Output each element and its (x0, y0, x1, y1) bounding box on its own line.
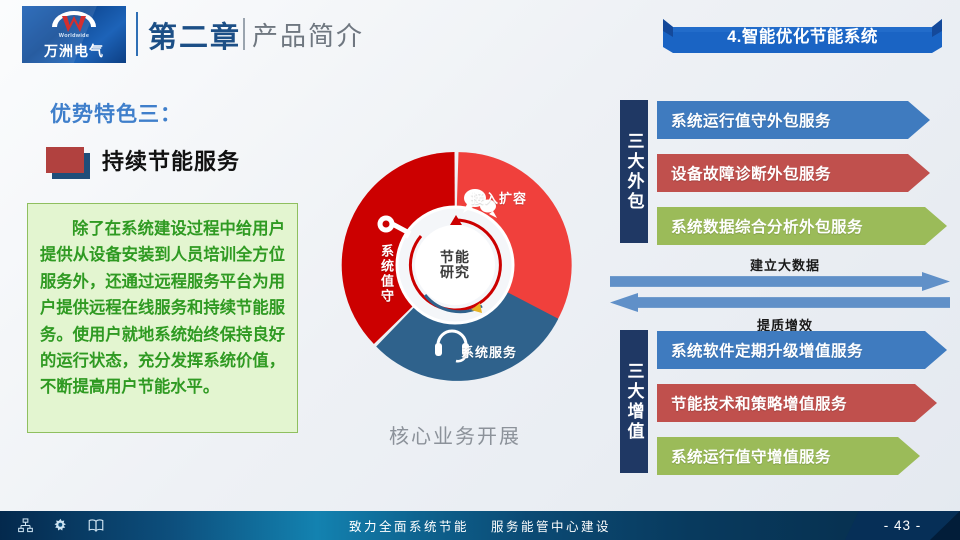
group-label-outsourcing-text: 三大外包 (622, 132, 647, 212)
bullet-heading-label: 持续节能服务 (102, 144, 240, 176)
flow-label-top: 建立大数据 (620, 255, 950, 274)
bullet-square-icon (46, 147, 84, 173)
donut-center-label: 节能 研究 (430, 250, 480, 280)
outsourcing-item-3[interactable]: 系统数据综合分析外包服务 (657, 207, 947, 245)
outsourcing-item-1-label: 系统运行值守外包服务 (671, 109, 831, 131)
core-business-donut-chart: 接入扩容 系统服务 系统值守 节能 研究 (330, 140, 580, 390)
footer-slogan: 致力全面系统节能 服务能管中心建设 (0, 511, 960, 540)
valueadd-item-3-label: 系统运行值守增值服务 (671, 445, 831, 467)
footer-slogan-left: 致力全面系统节能 (349, 516, 469, 535)
group-label-outsourcing: 三大外包 (620, 100, 648, 243)
valueadd-item-3[interactable]: 系统运行值守增值服务 (657, 437, 920, 475)
donut-label-service: 系统服务 (461, 342, 517, 361)
valueadd-item-1-label: 系统软件定期升级增值服务 (671, 339, 863, 361)
advantage-title: 优势特色三： (50, 98, 182, 128)
outsourcing-item-3-label: 系统数据综合分析外包服务 (671, 215, 863, 237)
section-banner-title: 4.智能优化节能系统 (663, 17, 942, 53)
donut-center-line1: 节能 (430, 250, 480, 265)
valueadd-item-2-label: 节能技术和策略增值服务 (671, 392, 847, 414)
description-text: 除了在系统建设过程中给用户提供从设备安装到人员培训全方位服务外，还通过远程服务平… (40, 216, 285, 401)
header-divider (136, 12, 138, 56)
group-label-valueadd: 三大增值 (620, 330, 648, 473)
outsourcing-item-1[interactable]: 系统运行值守外包服务 (657, 101, 930, 139)
chapter-separator (243, 18, 245, 50)
w-shield-icon (50, 11, 98, 35)
description-callout: 除了在系统建设过程中给用户提供从设备安装到人员培训全方位服务外，还通过远程服务平… (27, 203, 298, 433)
chapter-title: 第二章 (148, 14, 241, 56)
donut-label-access: 接入扩容 (471, 188, 527, 207)
donut-center-line2: 研究 (430, 265, 480, 280)
outsourcing-item-2-label: 设备故障诊断外包服务 (671, 162, 831, 184)
outsourcing-item-2[interactable]: 设备故障诊断外包服务 (657, 154, 930, 192)
slide-footer: 致力全面系统节能 服务能管中心建设 - 43 - (0, 511, 960, 540)
footer-slogan-right: 服务能管中心建设 (491, 516, 611, 535)
donut-caption: 核心业务开展 (330, 420, 580, 449)
logo-subtitle: Worldwide (22, 33, 126, 39)
flow-arrow-right (610, 272, 950, 291)
valueadd-item-1[interactable]: 系统软件定期升级增值服务 (657, 331, 947, 369)
donut-label-duty: 系统值守 (377, 244, 396, 304)
chapter-subtitle: 产品简介 (252, 16, 364, 53)
slide-canvas: Worldwide 万洲电气 第二章 产品简介 优势特色三： 持续节能服务 除了… (0, 0, 960, 540)
logo-company-name: 万洲电气 (22, 41, 126, 61)
valueadd-item-2[interactable]: 节能技术和策略增值服务 (657, 384, 937, 422)
flow-arrow-left (610, 293, 950, 312)
bullet-heading: 持续节能服务 (46, 147, 296, 183)
group-label-valueadd-text: 三大增值 (622, 362, 647, 442)
company-logo: Worldwide 万洲电气 (22, 6, 126, 63)
section-banner: 4.智能优化节能系统 (663, 17, 942, 53)
